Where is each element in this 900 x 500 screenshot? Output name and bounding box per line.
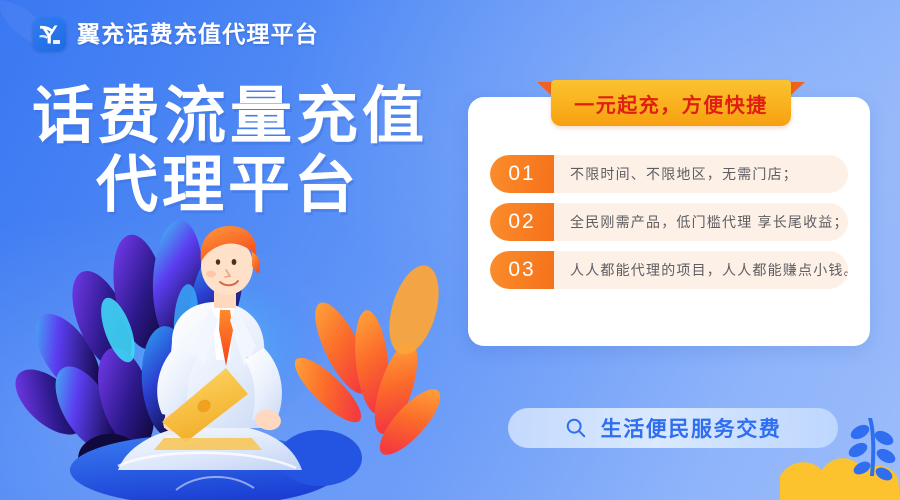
list-item[interactable]: 01 不限时间、不限地区，无需门店； <box>490 155 848 193</box>
feature-number: 01 <box>490 155 554 193</box>
feature-number: 03 <box>490 251 554 289</box>
hero-headline: 话费流量充值 代理平台 <box>26 82 446 221</box>
search-cta-button[interactable]: 生活便民服务交费 <box>508 408 838 448</box>
ribbon-text: 一元起充，方便快捷 <box>574 89 768 118</box>
promo-banner: 翼充话费充值代理平台 话费流量充值 代理平台 <box>0 0 900 500</box>
feature-text: 不限时间、不限地区，无需门店； <box>554 164 798 184</box>
feature-list: 01 不限时间、不限地区，无需门店； 02 全民刚需产品，低门槛代理 享长尾收益… <box>490 155 848 289</box>
wing-y-logo-icon[interactable] <box>33 18 66 51</box>
feature-text: 全民刚需产品，低门槛代理 享长尾收益； <box>554 212 848 232</box>
list-item[interactable]: 03 人人都能代理的项目，人人都能赚点小钱。 <box>490 251 848 289</box>
promo-ribbon: 一元起充，方便快捷 <box>537 80 805 126</box>
feature-text: 人人都能代理的项目，人人都能赚点小钱。 <box>554 260 848 280</box>
hero-line-2: 代理平台 <box>26 151 446 220</box>
hero-line-1: 话费流量充值 <box>26 82 446 151</box>
header-title: 翼充话费充值代理平台 <box>77 23 319 46</box>
search-cta-label: 生活便民服务交费 <box>601 413 782 443</box>
feature-card: 01 不限时间、不限地区，无需门店； 02 全民刚需产品，低门槛代理 享长尾收益… <box>468 97 870 346</box>
ribbon-body: 一元起充，方便快捷 <box>551 80 791 126</box>
search-icon <box>565 417 587 439</box>
header: 翼充话费充值代理平台 <box>33 18 319 51</box>
list-item[interactable]: 02 全民刚需产品，低门槛代理 享长尾收益； <box>490 203 848 241</box>
feature-number: 02 <box>490 203 554 241</box>
